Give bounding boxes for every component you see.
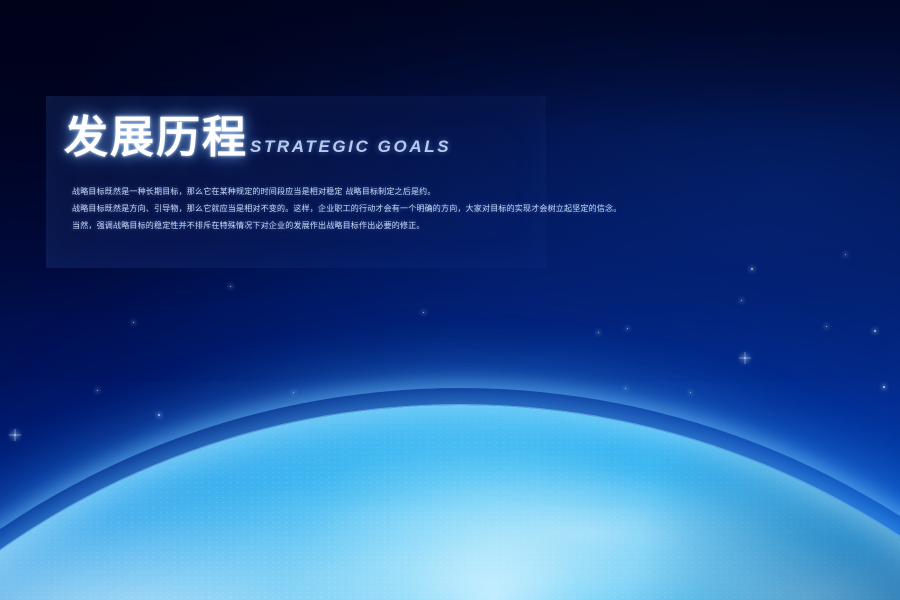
- body-copy: 战略目标既然是一种长期目标，那么它在某种规定的时间段应当是相对稳定 战略目标制定…: [72, 185, 542, 236]
- page-title: 发展历程: [64, 116, 248, 160]
- headline: 发展历程 STRATEGIC GOALS: [64, 116, 451, 160]
- body-copy-line: 战略目标既然是一种长期目标，那么它在某种规定的时间段应当是相对稳定 战略目标制定…: [72, 185, 542, 198]
- body-copy-line: 战略目标既然是方向、引导物，那么它就应当是相对不变的。这样，企业职工的行动才会有…: [72, 202, 542, 215]
- scene-vignette: [0, 0, 900, 600]
- banner-stage: 发展历程 STRATEGIC GOALS 战略目标既然是一种长期目标，那么它在某…: [0, 0, 900, 600]
- body-copy-line: 当然，强调战略目标的稳定性并不排斥在特殊情况下对企业的发展作出战略目标作出必要的…: [72, 219, 542, 232]
- page-subtitle: STRATEGIC GOALS: [250, 137, 451, 157]
